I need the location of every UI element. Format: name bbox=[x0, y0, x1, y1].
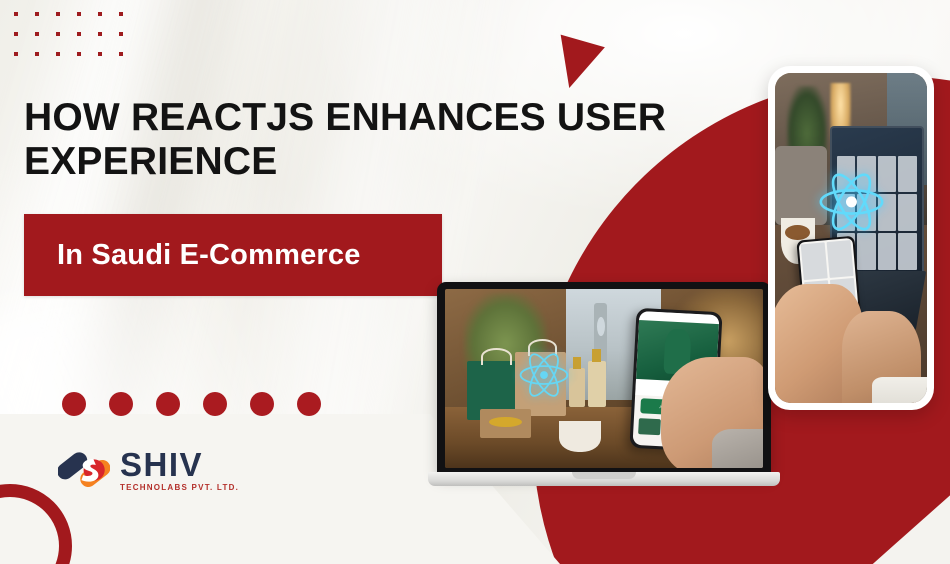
laptop-hinge-notch bbox=[572, 472, 636, 479]
logo-wordmark: SHIV TECHNOLABS PVT. LTD. bbox=[120, 448, 239, 492]
page-title: HOW REACTJS ENHANCES USER EXPERIENCE bbox=[24, 96, 714, 184]
company-logo[interactable]: SHIV TECHNOLABS PVT. LTD. bbox=[58, 448, 239, 492]
sleeve bbox=[712, 429, 763, 468]
react-logo-icon bbox=[815, 159, 888, 245]
laptop-screen-photo: ADD TO CART bbox=[445, 289, 763, 468]
subtitle-text: In Saudi E-Commerce bbox=[24, 239, 361, 272]
circle-row-decoration bbox=[62, 392, 321, 416]
perfume-bottle bbox=[588, 361, 605, 408]
red-triangle-shape bbox=[547, 35, 605, 95]
shirt-cuff bbox=[872, 377, 927, 403]
arabic-coffee-cup bbox=[559, 421, 600, 451]
jewellery-box bbox=[480, 409, 531, 438]
blog-hero-banner: HOW REACTJS ENHANCES USER EXPERIENCE In … bbox=[0, 0, 950, 564]
logo-tagline: TECHNOLABS PVT. LTD. bbox=[120, 484, 239, 492]
photo-card-right bbox=[768, 66, 934, 410]
photo-right-image bbox=[775, 73, 927, 403]
laptop-lid: ADD TO CART bbox=[437, 282, 771, 475]
logo-company-name: SHIV bbox=[120, 448, 239, 481]
subtitle-banner: In Saudi E-Commerce bbox=[24, 214, 442, 296]
react-logo-icon bbox=[509, 350, 579, 400]
laptop-mockup: ADD TO CART bbox=[428, 282, 780, 498]
dot-grid-decoration bbox=[14, 12, 140, 72]
shiv-logo-mark-icon bbox=[58, 448, 110, 492]
